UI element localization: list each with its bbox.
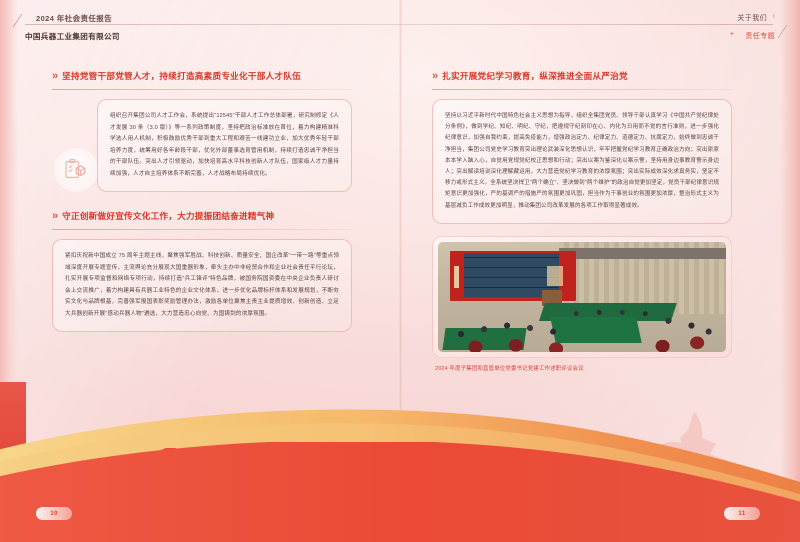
header-slash-left-icon bbox=[13, 14, 39, 27]
meeting-photo bbox=[438, 242, 726, 352]
left-column: » 坚持党管干部党管人才，持续打造高素质专业化干部人才队伍 组织召开集团公司人才… bbox=[52, 70, 352, 341]
section-talent-title: 坚持党管干部党管人才，持续打造高素质专业化干部人才队伍 bbox=[62, 70, 301, 82]
double-chevron-icon: » bbox=[432, 71, 436, 82]
plus-icon: + bbox=[730, 31, 734, 38]
company-name: 中国兵器工业集团有限公司 bbox=[25, 31, 120, 42]
report-title: 2024 年社会责任报告 bbox=[36, 13, 112, 24]
chevron-left-icon: ‹ bbox=[773, 13, 775, 20]
double-chevron-icon: » bbox=[52, 211, 56, 222]
footer-decoration: 10 11 bbox=[0, 382, 800, 542]
section-discipline-body: 坚持以习近平新时代中国特色社会主义思想为指导，组织全集团党员、领导干部认真学习《… bbox=[445, 111, 719, 212]
deco-wave-red bbox=[0, 442, 800, 542]
section-rule bbox=[52, 89, 352, 90]
nav-about-us[interactable]: 关于我们 bbox=[737, 13, 767, 23]
section-discipline-head: » 扎实开展党纪学习教育，纵深推进全面从严治党 bbox=[432, 70, 732, 89]
header-divider bbox=[25, 24, 773, 25]
section-rule bbox=[52, 229, 352, 230]
photo-banner-text-left bbox=[454, 266, 459, 288]
section-talent-body: 组织召开集团公司人才工作会，系统提出"12545"干部人才工作总体部署，研究制修… bbox=[110, 111, 339, 180]
section-discipline-card: 坚持以习近平新时代中国特色社会主义思想为指导，组织全集团党员、领导干部认真学习《… bbox=[432, 99, 732, 224]
photo-chairs bbox=[438, 310, 726, 352]
photo-ceiling-beam bbox=[559, 248, 726, 259]
nav-responsibility-topic[interactable]: 责任专题 bbox=[745, 31, 775, 41]
section-culture-title: 守正创新做好宣传文化工作，大力提振团结奋进精气神 bbox=[62, 210, 274, 222]
meeting-photo-caption: 2024 年度子集团和直管单位党委书记党建工作述职评议会议 bbox=[432, 364, 732, 372]
section-rule bbox=[432, 89, 732, 90]
section-talent-card: 组织召开集团公司人才工作会，系统提出"12545"干部人才工作总体部署，研究制修… bbox=[97, 99, 352, 192]
meeting-photo-frame bbox=[432, 236, 732, 358]
double-chevron-icon: » bbox=[52, 71, 56, 82]
report-page: 2024 年社会责任报告 中国兵器工业集团有限公司 关于我们 ‹ + 责任专题 … bbox=[0, 0, 800, 542]
section-talent-head: » 坚持党管干部党管人才，持续打造高素质专业化干部人才队伍 bbox=[52, 70, 352, 89]
section-talent: » 坚持党管干部党管人才，持续打造高素质专业化干部人才队伍 组织召开集团公司人才… bbox=[52, 70, 352, 192]
section-culture-head: » 守正创新做好宣传文化工作，大力提振团结奋进精气神 bbox=[52, 210, 352, 229]
photo-banner-text-right bbox=[547, 266, 563, 286]
section-culture-card: 紧扣庆祝新中国成立 75 周年主题主线，聚焦强军胜战、科技创新、质量安全、国企改… bbox=[52, 239, 352, 332]
section-discipline-title: 扎实开展党纪学习教育，纵深推进全面从严治党 bbox=[442, 70, 628, 82]
section-culture-body: 紧扣庆祝新中国成立 75 周年主题主线，聚焦强军胜战、科技创新、质量安全、国企改… bbox=[65, 251, 339, 320]
right-column: » 扎实开展党纪学习教育，纵深推进全面从严治党 坚持以习近平新时代中国特色社会主… bbox=[432, 70, 732, 372]
section-culture: » 守正创新做好宣传文化工作，大力提振团结奋进精气神 紧扣庆祝新中国成立 75 … bbox=[52, 210, 352, 332]
clipboard-cube-icon bbox=[54, 148, 98, 192]
page-number-right: 11 bbox=[724, 507, 760, 520]
section-discipline: » 扎实开展党纪学习教育，纵深推进全面从严治党 坚持以习近平新时代中国特色社会主… bbox=[432, 70, 732, 224]
page-header: 2024 年社会责任报告 中国兵器工业集团有限公司 关于我们 ‹ + 责任专题 bbox=[0, 0, 800, 56]
page-number-left: 10 bbox=[36, 507, 72, 520]
